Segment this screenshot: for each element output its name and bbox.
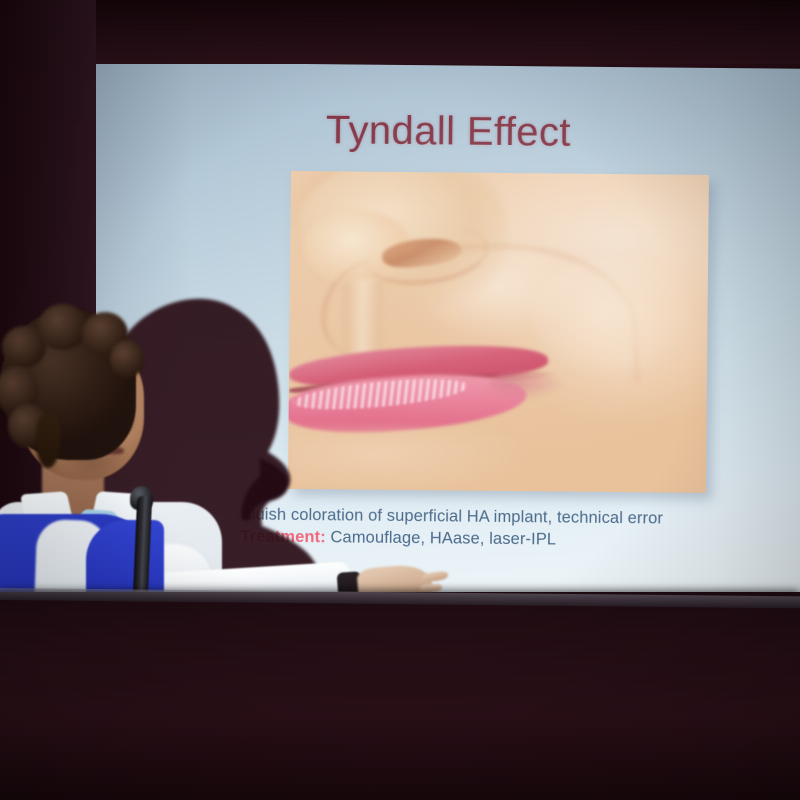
clinical-photo-perioral-closeup <box>288 171 709 493</box>
presenter-hair-curl <box>110 340 144 378</box>
slide-caption: Bluish coloration of superficial HA impl… <box>240 503 770 552</box>
slide-title: Tyndall Effect <box>92 108 800 155</box>
presenter-hair-curl <box>38 304 88 350</box>
photo-chin-shading <box>288 425 590 493</box>
table-front <box>0 592 800 800</box>
photo-philtrum <box>344 280 382 357</box>
photo-cheek-highlight <box>531 256 699 378</box>
caption-line-two: Treatment: Camouflage, HAase, laser-IPL <box>240 525 770 552</box>
photo-mouth-corner <box>489 370 565 399</box>
treatment-text: Camouflage, HAase, laser-IPL <box>326 528 557 548</box>
presenter-sideburn <box>36 414 60 468</box>
room-ceiling-darkness <box>0 0 800 64</box>
presentation-photo: Tyndall Effect B <box>0 0 800 800</box>
